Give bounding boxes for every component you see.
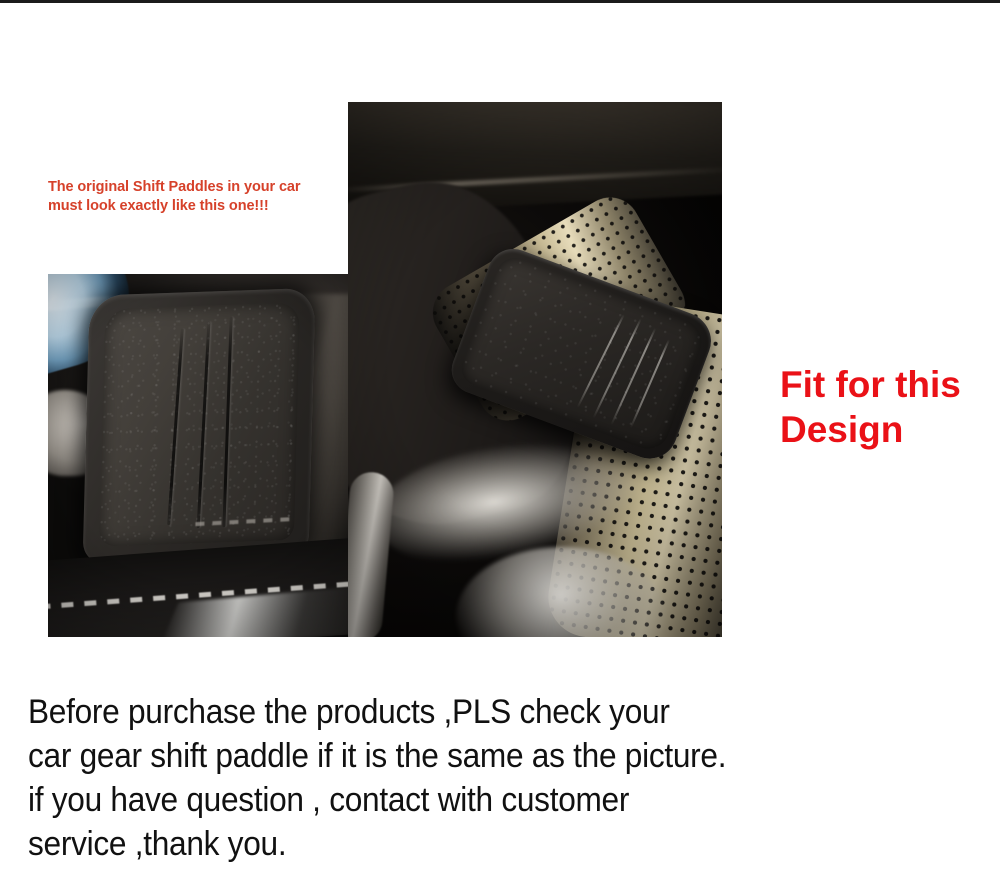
paddle-ridge-line (167, 329, 184, 525)
top-border-rule (0, 0, 1000, 3)
fit-for-this-design-callout: Fit for this Design (780, 362, 995, 452)
original-paddle-warning-text: The original Shift Paddles in your car m… (48, 178, 378, 216)
shift-paddle-left-face (99, 302, 300, 546)
paddle-ridge-line (222, 317, 232, 527)
paddle-ridge-line (593, 318, 642, 418)
paddle-ridge-line (611, 328, 657, 425)
product-info-image: The original Shift Paddles in your car m… (0, 0, 1000, 872)
purchase-instructions-text: Before purchase the products ,PLS check … (28, 690, 912, 866)
paddle-ridge-line (630, 339, 670, 428)
paddle-ridge-line (577, 314, 625, 408)
shift-paddle-left (83, 288, 316, 564)
paddle-bottom-dashes (195, 516, 300, 526)
paddle-photo-right (348, 102, 722, 637)
paddle-photo-left (48, 274, 348, 637)
paddle-ridge-line (197, 322, 211, 528)
